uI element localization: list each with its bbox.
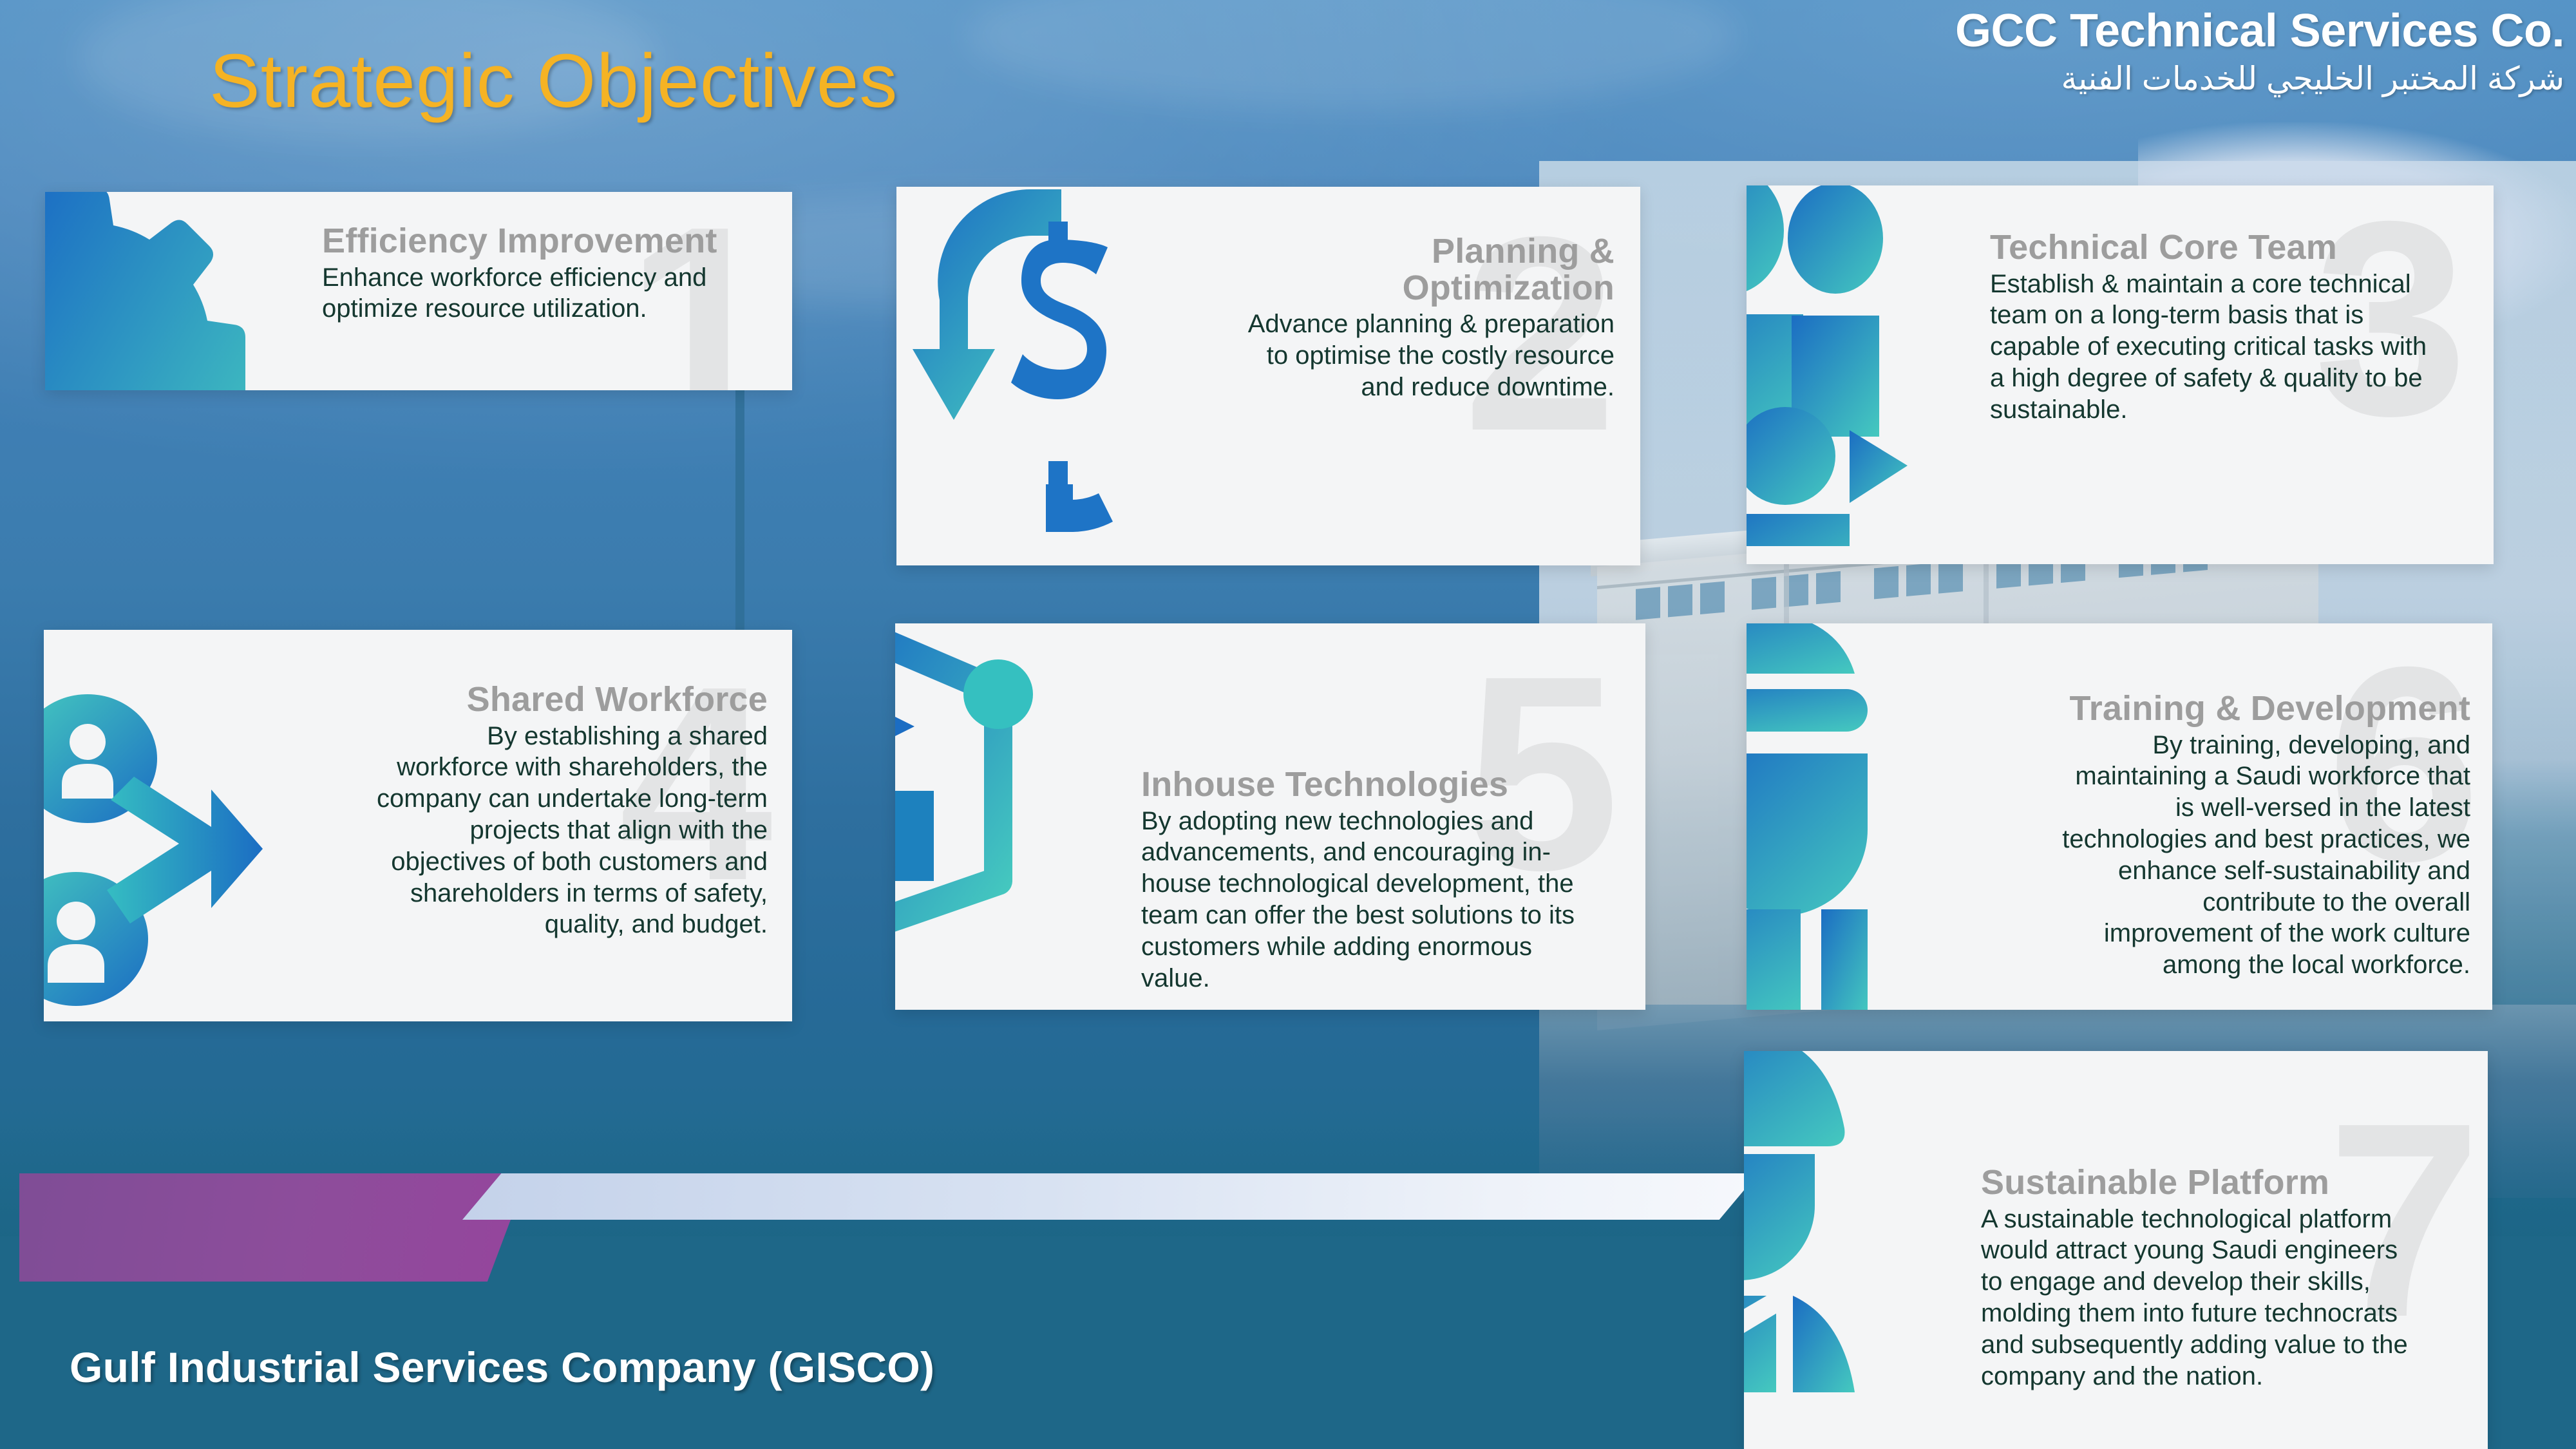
gear-up-arrow-icon: [45, 192, 318, 390]
footer-company-name: Gulf Industrial Services Company (GISCO): [70, 1343, 934, 1392]
objective-card-4[interactable]: 4 Shared Workforce By establishing a sha…: [44, 630, 792, 1021]
page-title: Strategic Objectives: [209, 37, 898, 125]
card-text-5: By adopting new technologies and advance…: [1141, 806, 1586, 994]
white-banner-stripe: [462, 1173, 1758, 1220]
purple-accent-shape: [19, 1173, 528, 1282]
card-text-6: By training, developing, and maintaining…: [2058, 730, 2470, 981]
objective-card-6[interactable]: 6 Training & Development By training, de…: [1747, 623, 2492, 1010]
helmet-worker-icon: [1744, 1051, 1950, 1418]
slide-canvas: Strategic Objectives GCC Technical Servi…: [0, 0, 2576, 1449]
objective-card-3[interactable]: 3 Technical Core Team Establish & mainta…: [1747, 185, 2494, 564]
card-title-7: Sustainable Platform: [1981, 1164, 2425, 1201]
card-text-3: Establish & maintain a core technical te…: [1990, 269, 2441, 426]
card-title-3: Technical Core Team: [1990, 229, 2441, 266]
team-people-icon: [1747, 185, 1965, 546]
objective-card-2[interactable]: 2 Planning & Optimization Advance plann: [896, 187, 1640, 565]
card-text-4: By establishing a shared workforce with …: [368, 721, 768, 941]
card-title-4: Shared Workforce: [368, 681, 768, 718]
objective-card-5[interactable]: 5 Inhouse Technologies By adopting new t…: [895, 623, 1645, 1010]
card-title-1: Efficiency Improvement: [322, 223, 773, 260]
card-title-5: Inhouse Technologies: [1141, 766, 1586, 803]
hexagon-node-icon: [895, 623, 1101, 978]
card-title-2: Planning & Optimization: [1228, 233, 1615, 306]
objective-card-1[interactable]: 1 Efficiency Improvement Enhance workfor…: [45, 192, 792, 390]
objective-card-7[interactable]: 7 Sustainable Platform A sustainable tec…: [1744, 1051, 2488, 1449]
card-text-1: Enhance workforce efficiency and optimiz…: [322, 262, 773, 325]
card-title-6: Training & Development: [2058, 690, 2470, 727]
shared-network-people-icon: [44, 681, 282, 1016]
card-text-7: A sustainable technological platform wou…: [1981, 1204, 2425, 1392]
company-logo: GCC Technical Services Co. شركة المختبر …: [1955, 8, 2564, 99]
dollar-down-arrow-icon: [899, 187, 1150, 565]
connector-stem: [735, 390, 744, 630]
company-name-ar: شركة المختبر الخليجي للخدمات الفنية: [1955, 59, 2564, 99]
card-text-2: Advance planning & preparation to optimi…: [1228, 308, 1615, 402]
graduate-person-icon: [1747, 623, 1940, 1010]
company-name-en: GCC Technical Services Co.: [1955, 8, 2564, 55]
